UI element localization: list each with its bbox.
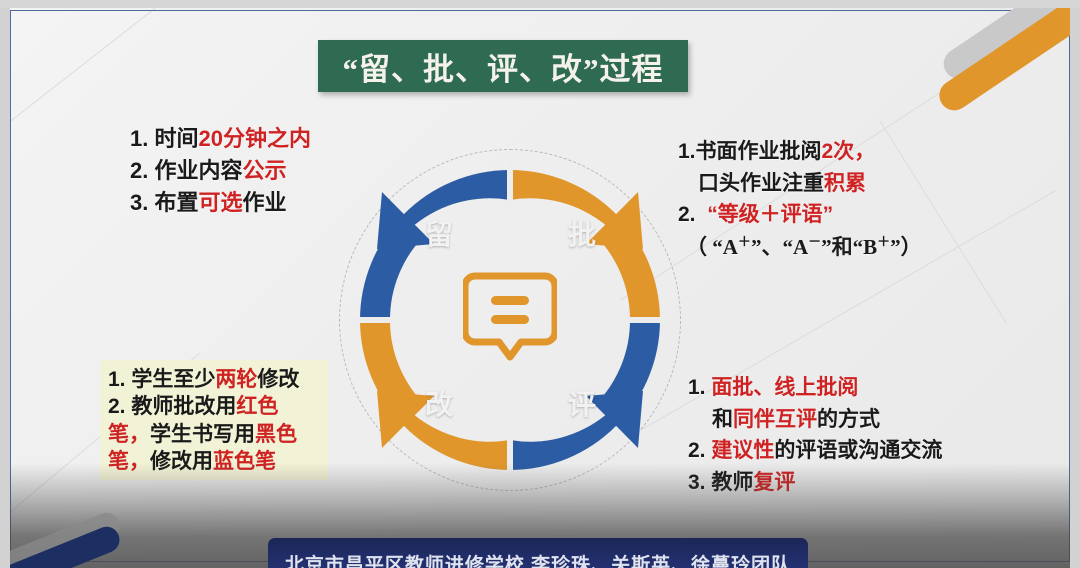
list-item-continuation: 笔，修改用蓝色笔	[108, 448, 322, 475]
list-text-highlight: 2次，	[822, 140, 876, 163]
quote-open: “	[712, 235, 723, 259]
list-text-highlight: 蓝色笔	[213, 450, 276, 473]
list-index: 2.	[688, 439, 706, 462]
list-text-highlight: 建议性	[711, 439, 774, 462]
list-text: 口头作业注重	[698, 172, 824, 195]
list-index: 3.	[688, 471, 706, 494]
list-item: 1. 面批、线上批阅	[688, 374, 942, 402]
slide-canvas: “留、批、评、改”过程 1. 时间20分钟之内 2. 作业内容公示 3. 布置可…	[0, 0, 1080, 568]
list-text-highlight: 可选	[199, 190, 243, 215]
list-item-continuation: 口头作业注重积累	[678, 170, 922, 198]
list-index: 1.	[688, 376, 706, 399]
segment-liu-body[interactable]	[360, 214, 425, 320]
list-item: 2. “等级＋评语”	[678, 201, 922, 229]
segment-gai-body[interactable]	[360, 320, 425, 426]
segment-label-ping: 评	[568, 383, 596, 423]
screen-edge-top	[0, 0, 1080, 8]
superscript-minus: －	[808, 234, 821, 249]
ring-gap-top	[507, 163, 513, 207]
list-text: 书面作业批阅	[696, 140, 822, 163]
list-text: 时间	[154, 126, 198, 151]
screen-edge-left	[0, 0, 10, 568]
list-item: 2. 教师批改用红色	[108, 393, 322, 420]
conjunction: 和	[832, 235, 853, 259]
quote-close: ”	[821, 235, 832, 259]
slide-title-bar: “留、批、评、改”过程	[318, 40, 688, 92]
ring-gap-left	[353, 317, 397, 323]
list-item: 1. 时间20分钟之内	[130, 124, 311, 153]
list-text: 学生至少	[131, 368, 215, 391]
paren-close: ）	[901, 235, 922, 259]
list-text-highlight: 笔，	[108, 450, 150, 473]
list-text-highlight: 红色	[236, 395, 278, 418]
list-text: 作业内容	[154, 158, 242, 183]
list-index: 3.	[130, 190, 148, 215]
list-text: 教师批改用	[131, 395, 236, 418]
speech-bubble-icon	[463, 270, 557, 370]
feedback-methods-list: 1. 面批、线上批阅 和同伴互评的方式 2. 建议性的评语或沟通交流 3. 教师…	[688, 374, 942, 501]
list-item: 1.书面作业批阅2次，	[678, 138, 922, 166]
segment-label-liu: 留	[425, 213, 453, 253]
ring-gap-bottom	[507, 433, 513, 477]
list-text-highlight: 同伴互评	[733, 408, 817, 431]
list-index: 1.	[130, 126, 148, 151]
superscript-plus: ＋	[738, 234, 751, 249]
grade-a-minus: A	[793, 235, 808, 259]
list-index: 2.	[108, 395, 126, 418]
list-text: 的方式	[817, 408, 880, 431]
grade-b-plus: B	[863, 235, 877, 259]
list-text: 的评语或沟通交流	[774, 439, 942, 462]
list-text: 修改用	[150, 450, 213, 473]
list-text: 修改	[257, 368, 299, 391]
quote-open: “	[782, 235, 793, 259]
list-text-highlight: 两轮	[215, 368, 257, 391]
assignment-rules-list: 1. 时间20分钟之内 2. 作业内容公示 3. 布置可选作业	[130, 124, 311, 220]
revision-rules-note: 1. 学生至少两轮修改 2. 教师批改用红色 笔，学生书写用黑色 笔，修改用蓝色…	[100, 360, 328, 480]
grade-a-plus: A	[723, 235, 738, 259]
banner-text: 北京市昌平区教师进修学校 李珍珠、关斯英、徐蔓玲团队	[285, 550, 791, 568]
list-text-highlight: 笔，	[108, 423, 150, 446]
list-text-highlight: “等级＋评语”	[707, 203, 833, 226]
list-item: 3. 布置可选作业	[130, 188, 311, 217]
list-text: 和	[712, 408, 733, 431]
presenter-credit-banner: 北京市昌平区教师进修学校 李珍珠、关斯英、徐蔓玲团队	[268, 538, 808, 568]
list-text-highlight: 面批、线上批阅	[711, 376, 858, 399]
quote-close: ”	[890, 235, 901, 259]
list-text: 布置	[154, 190, 198, 215]
separator: 、	[761, 235, 782, 259]
list-text-highlight: 公示	[243, 158, 287, 183]
list-text-highlight: 黑色	[255, 423, 297, 446]
list-text-highlight: 复评	[753, 471, 795, 494]
page-title: “留、批、评、改”过程	[343, 44, 664, 89]
list-item: 2. 作业内容公示	[130, 156, 311, 185]
screen-edge-right	[1070, 0, 1080, 568]
list-text: 教师	[711, 471, 753, 494]
segment-label-pi: 批	[568, 213, 596, 253]
segment-pi-body[interactable]	[595, 214, 660, 320]
list-item-continuation: 和同伴互评的方式	[688, 406, 942, 434]
list-text: 作业	[243, 190, 287, 215]
grading-rules-list: 1.书面作业批阅2次， 口头作业注重积累 2. “等级＋评语” （ “A＋”、“…	[678, 138, 922, 266]
list-item: 1. 学生至少两轮修改	[108, 366, 322, 393]
list-text-highlight: 20分钟之内	[199, 126, 311, 151]
list-index: 2.	[130, 158, 148, 183]
list-item: 3. 教师复评	[688, 469, 942, 497]
quote-close: ”	[751, 235, 762, 259]
ring-gap-right	[623, 317, 667, 323]
list-index: 1.	[108, 368, 126, 391]
four-step-cycle: 留 批 评 改	[335, 145, 685, 495]
paren-open: （	[686, 235, 707, 259]
list-item-continuation: 笔，学生书写用黑色	[108, 421, 322, 448]
list-text: 学生书写用	[150, 423, 255, 446]
segment-label-gai: 改	[425, 383, 453, 423]
segment-ping-body[interactable]	[595, 320, 660, 426]
grade-examples: （ “A＋”、“A－”和“B＋”）	[678, 233, 922, 262]
list-text-highlight: 积累	[824, 172, 866, 195]
list-item: 2. 建议性的评语或沟通交流	[688, 437, 942, 465]
quote-open: “	[853, 235, 864, 259]
superscript-plus: ＋	[877, 234, 890, 249]
